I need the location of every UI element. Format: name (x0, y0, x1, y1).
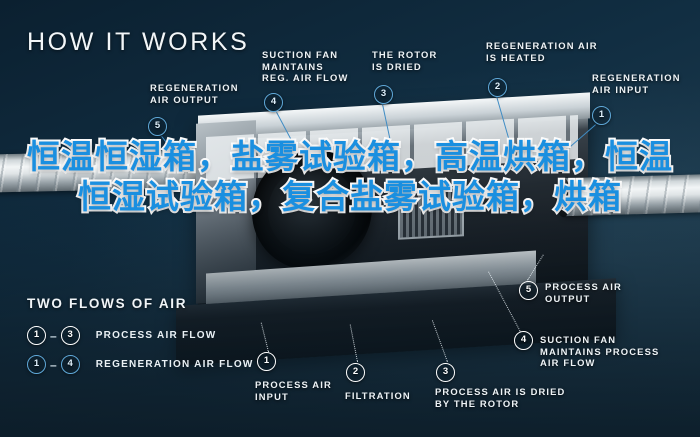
callout-label-suction-fan-reg: SUCTION FAN MAINTAINS REG. AIR FLOW (262, 49, 348, 84)
callout-label-process-air-output: PROCESS AIR OUTPUT (545, 281, 622, 304)
marker-2-filtration[interactable]: 2 (346, 363, 365, 382)
infographic-stage: HOW IT WORKS REGENERATION AIR OUTPUT 5 S… (0, 0, 700, 437)
legend-marker-to-4: 4 (61, 355, 80, 374)
page-title: HOW IT WORKS (27, 28, 249, 57)
marker-4-suction-fan-process[interactable]: 4 (514, 331, 533, 350)
legend-row-regeneration-air-flow: 1 – 4 REGENERATION AIR FLOW (27, 355, 254, 374)
callout-label-regeneration-heated: REGENERATION AIR IS HEATED (486, 40, 598, 63)
marker-2-regeneration-heated[interactable]: 2 (488, 78, 507, 97)
legend-dash: – (50, 329, 57, 343)
legend-marker-from-1: 1 (27, 326, 46, 345)
legend-marker-to-3: 3 (61, 326, 80, 345)
legend-title: TWO FLOWS OF AIR (27, 296, 187, 311)
marker-1-process-input[interactable]: 1 (257, 352, 276, 371)
chinese-text-overlay: 恒温恒湿箱，盐雾试验箱，高温烘箱，恒温恒湿试验箱，复合盐雾试验箱，烘箱 (0, 137, 700, 217)
legend-label-regeneration-air-flow: REGENERATION AIR FLOW (96, 359, 254, 370)
chinese-overlay-text: 恒温恒湿箱，盐雾试验箱，高温烘箱，恒温恒湿试验箱，复合盐雾试验箱，烘箱 (27, 137, 673, 216)
callout-label-process-air-dried: PROCESS AIR IS DRIED BY THE ROTOR (435, 386, 565, 409)
legend-label-process-air-flow: PROCESS AIR FLOW (96, 330, 217, 341)
marker-4-suction-fan-reg[interactable]: 4 (264, 93, 283, 112)
callout-label-filtration: FILTRATION (345, 390, 411, 402)
marker-3-rotor-dried[interactable]: 3 (374, 85, 393, 104)
callout-label-suction-fan-process: SUCTION FAN MAINTAINS PROCESS AIR FLOW (540, 334, 659, 369)
callout-label-process-air-input: PROCESS AIR INPUT (255, 379, 332, 402)
legend-row-process-air-flow: 1 – 3 PROCESS AIR FLOW (27, 326, 216, 345)
legend-marker-from-1: 1 (27, 355, 46, 374)
marker-3-process-dried[interactable]: 3 (436, 363, 455, 382)
marker-5-regeneration-output[interactable]: 5 (148, 117, 167, 136)
callout-label-regeneration-air-input: REGENERATION AIR INPUT (592, 72, 681, 95)
callout-label-rotor-dried: THE ROTOR IS DRIED (372, 49, 437, 72)
marker-5-process-output[interactable]: 5 (519, 281, 538, 300)
legend-dash: – (50, 358, 57, 372)
callout-label-regeneration-air-output: REGENERATION AIR OUTPUT (150, 82, 239, 105)
marker-1-regeneration-input[interactable]: 1 (592, 106, 611, 125)
